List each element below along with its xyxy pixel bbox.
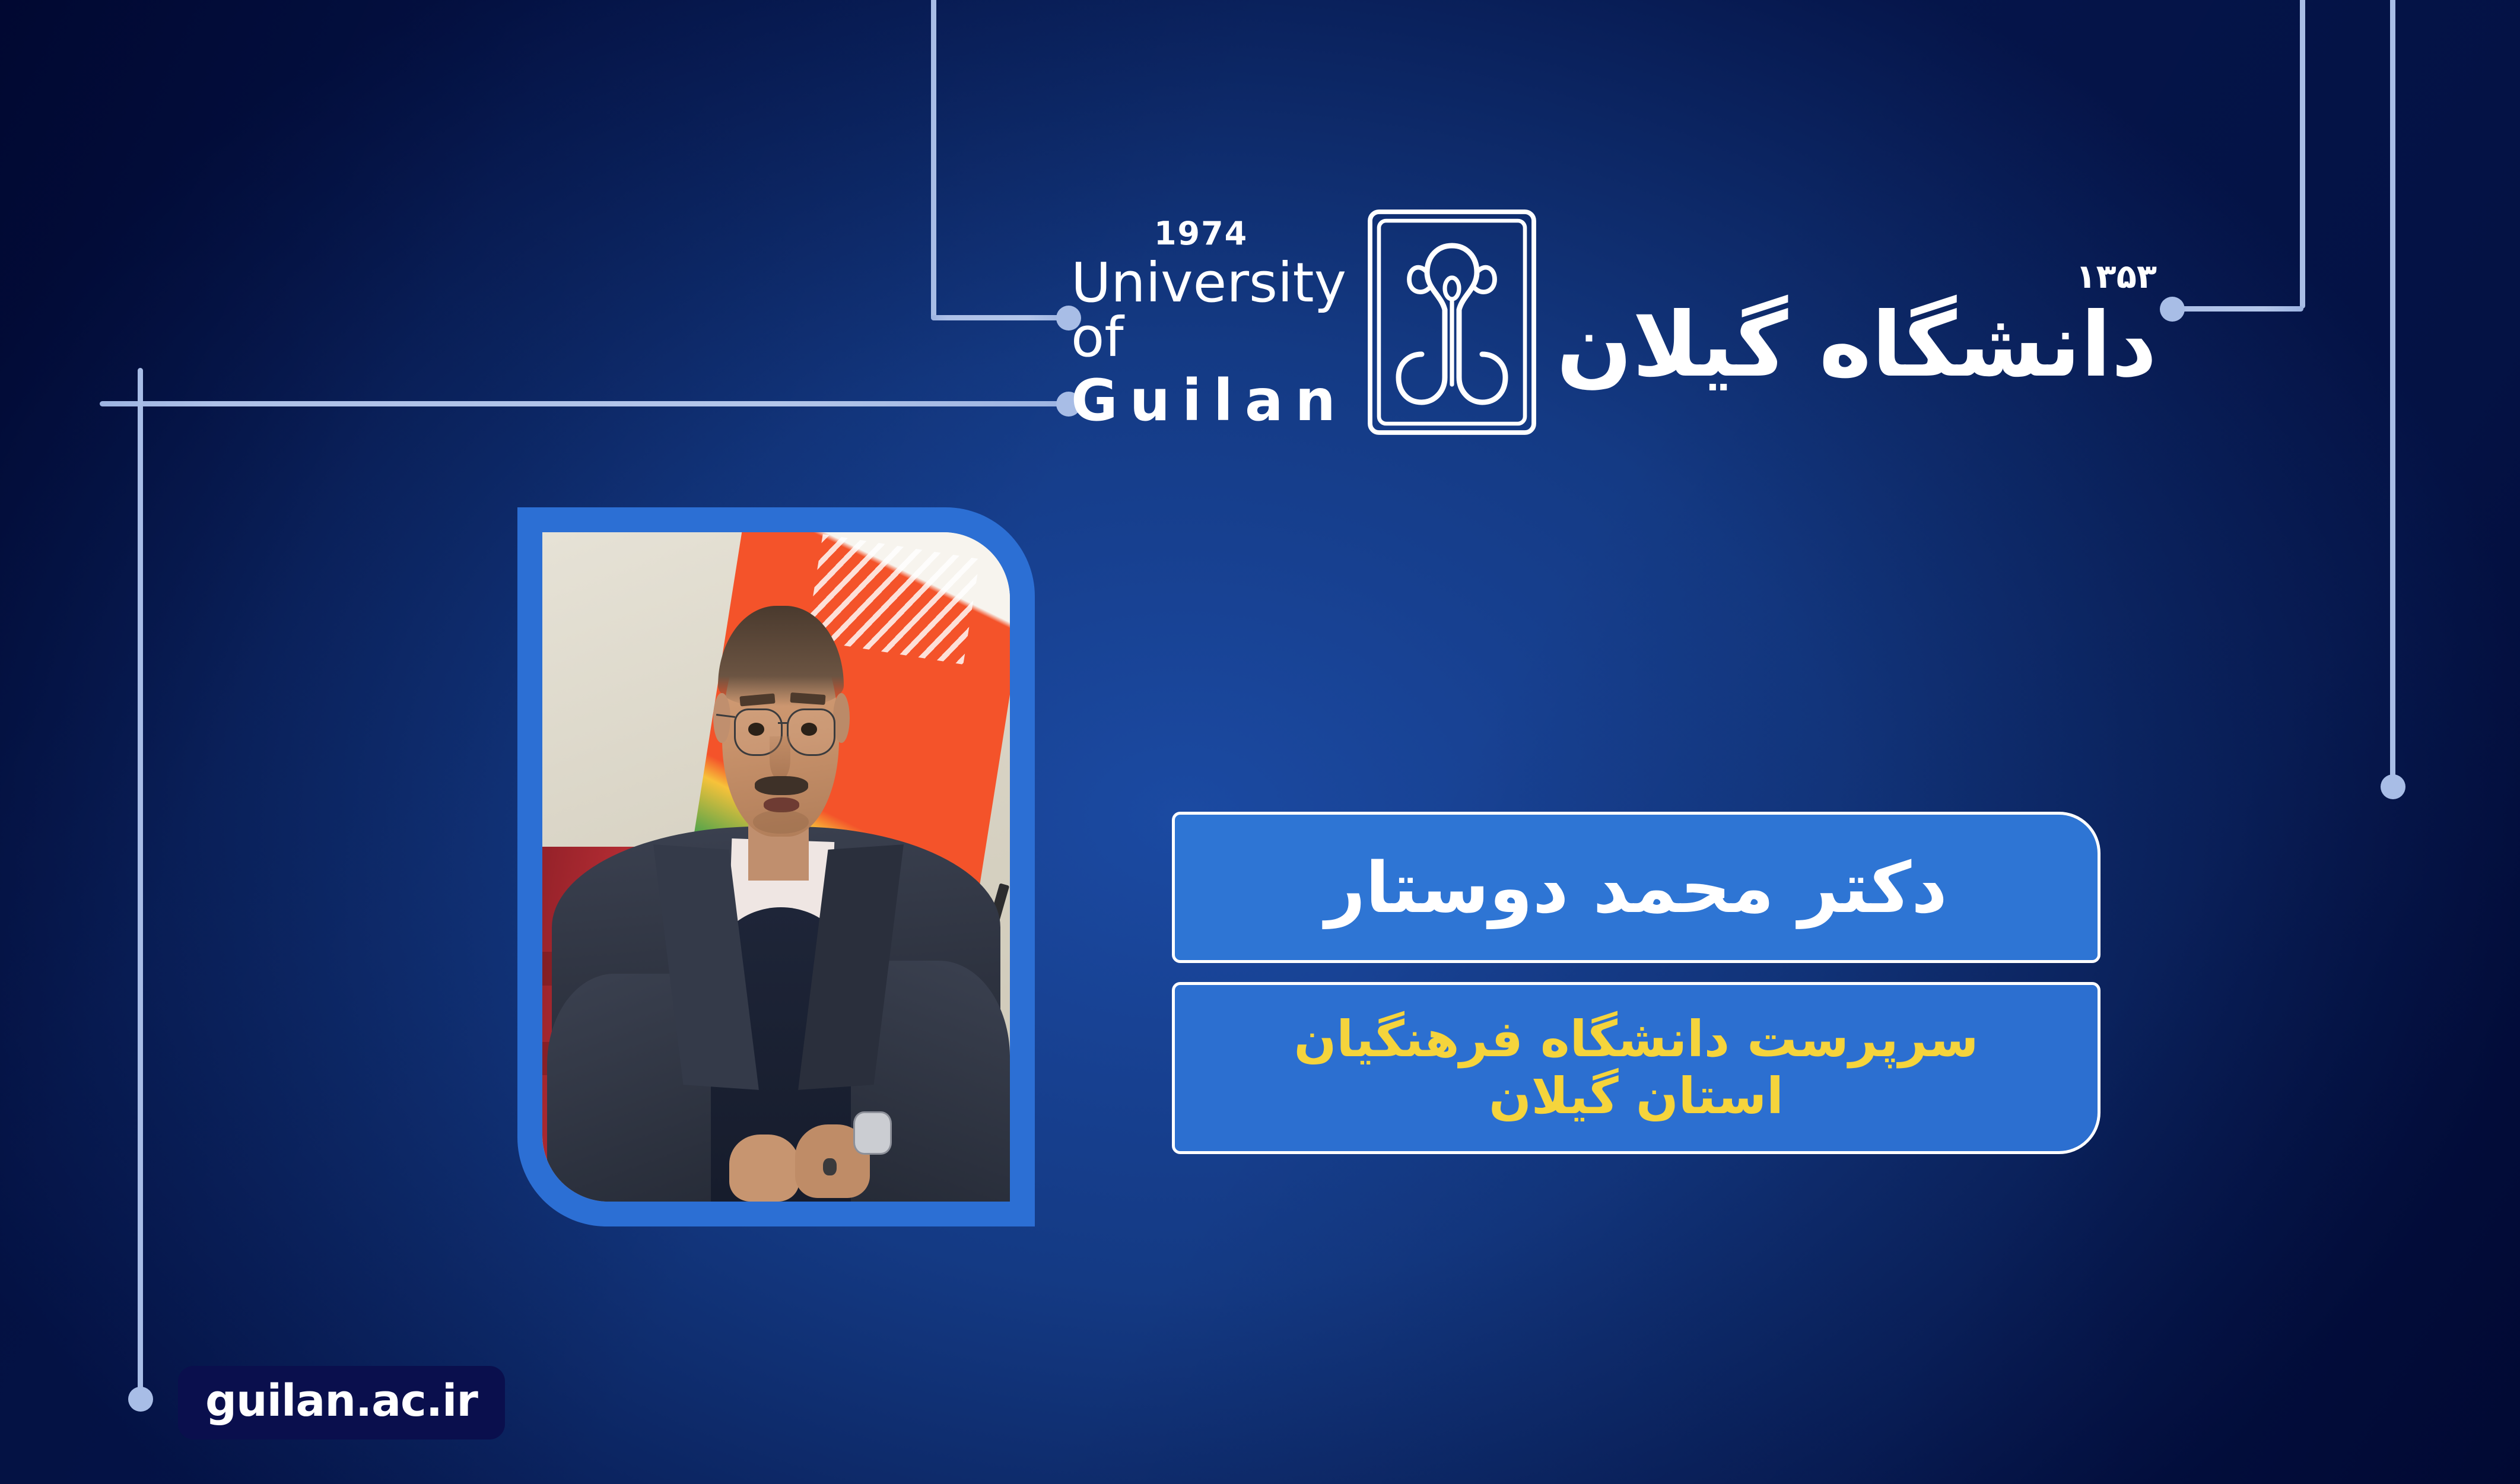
university-emblem-icon (1363, 206, 1541, 440)
portrait-frame (517, 507, 1035, 1226)
logo-year-persian: ۱۳۵۳ (1556, 258, 2157, 296)
university-logo: 1974 University of Guilan ۱۳۵۳ دانشگاه گ… (1145, 196, 2083, 451)
logo-english-line1: University of (1071, 256, 1348, 365)
person-name-banner: دکتر محمد دوستار (1172, 812, 2100, 963)
deco-hline-top-right (2172, 306, 2303, 312)
deco-dot-bottom-left (128, 1387, 153, 1412)
deco-vline-left (138, 368, 143, 1402)
deco-hline-lower (100, 401, 1069, 406)
website-url: guilan.ac.ir (205, 1379, 478, 1423)
logo-english-line2: Guilan (1071, 372, 1348, 429)
deco-vline-corner-right (2300, 0, 2305, 309)
banner-canvas: 1974 University of Guilan ۱۳۵۳ دانشگاه گ… (0, 0, 2520, 1484)
logo-persian-block: ۱۳۵۳ دانشگاه گیلان (1556, 258, 2157, 390)
logo-persian-name: دانشگاه گیلان (1556, 301, 2157, 390)
person-name: دکتر محمد دوستار (1325, 853, 1947, 923)
deco-hline-upper (931, 315, 1069, 320)
person-title-banner: سرپرست دانشگاه فرهنگیان استان گیلان (1172, 982, 2100, 1154)
logo-year-gregorian: 1974 (1154, 218, 1348, 250)
portrait-photo (542, 532, 1010, 1202)
logo-english-block: 1974 University of Guilan (1071, 218, 1348, 429)
deco-dot-top-right (2160, 297, 2185, 322)
deco-vline-top-left (931, 0, 936, 320)
person-title-line2: استان گیلان (1489, 1068, 1784, 1125)
website-pill[interactable]: guilan.ac.ir (178, 1366, 505, 1439)
person-title-line1: سرپرست دانشگاه فرهنگیان (1294, 1011, 1979, 1068)
deco-dot-right-edge (2381, 774, 2405, 799)
deco-vline-right-edge (2390, 0, 2395, 789)
